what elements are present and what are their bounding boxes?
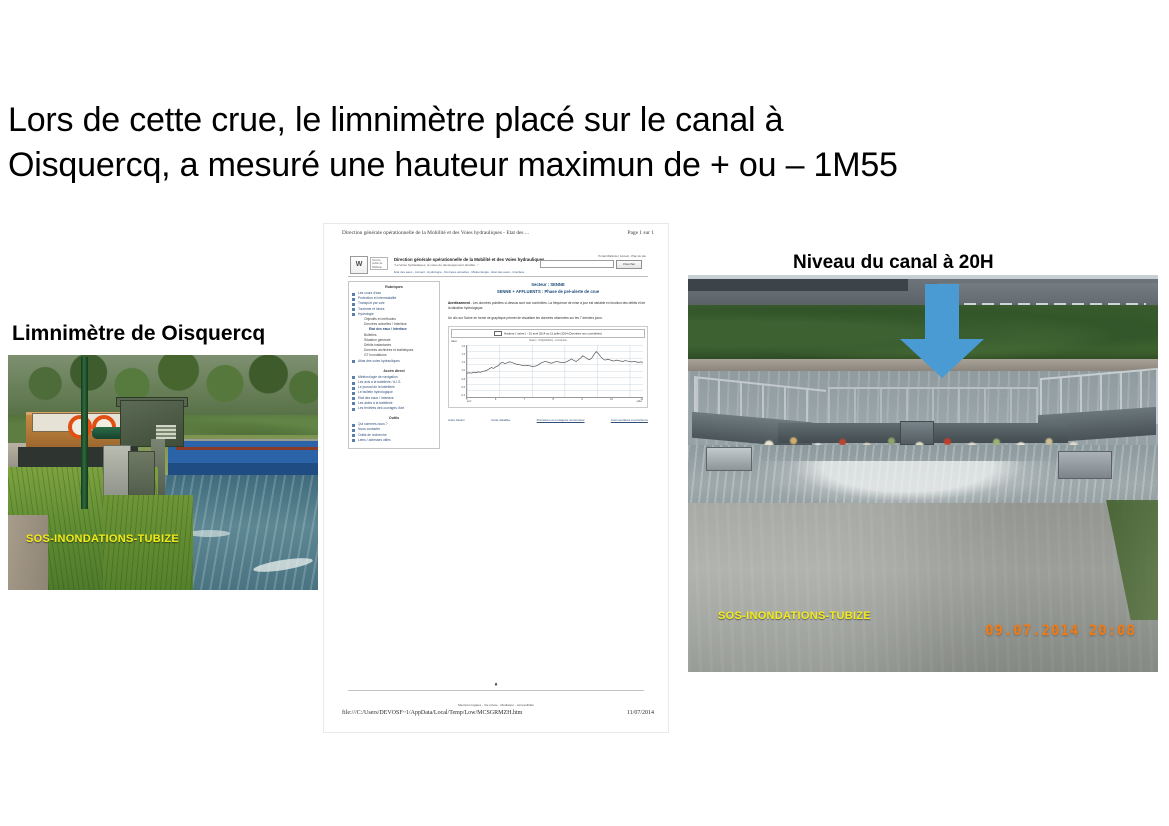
chart-yticks: 1.6 1.4 1.2 1.0 0.8 0.6 0.4 <box>451 345 465 397</box>
site-footer: ♦ Mentions légales - Vie privée - Médiat… <box>348 682 644 711</box>
chart-xunit-left: avril <box>467 401 471 403</box>
sidebar-navigation: Rubriques Les cours d'eau Protection et … <box>348 281 440 449</box>
service-public-logo-icon: Service public de Wallonie <box>370 257 388 270</box>
chart-xticks: 5 6 7 8 9 10 11 <box>466 398 643 401</box>
down-arrow-icon <box>896 284 988 378</box>
portal-links[interactable]: Portail Wallonie | Accueil - Plan du sit… <box>598 254 646 258</box>
search-button[interactable]: Chercher <box>616 260 642 269</box>
sector-line-1: Secteur : SENNE <box>448 281 648 288</box>
sidebar-heading-outils: Outils <box>352 416 436 420</box>
nav-item[interactable]: Atlas des voies hydrauliques <box>352 359 436 364</box>
gravel-path <box>8 515 48 590</box>
metal-box-left <box>706 447 752 471</box>
ytick: 1.6 <box>462 345 465 348</box>
watermark-text: SOS-INONDATIONS-TUBIZE <box>718 610 871 622</box>
water-foam <box>188 530 230 537</box>
ytick: 0.8 <box>462 378 465 381</box>
nav-list-acces-direct: Météorologie de navigation Les avis à la… <box>352 375 436 411</box>
xtick: 9 <box>581 398 582 401</box>
chart-xunit-right: juillet <box>637 401 642 403</box>
xtick: 7 <box>524 398 525 401</box>
chart-plot-area <box>466 345 643 398</box>
legend-swatch-icon <box>494 331 502 336</box>
chart-container: Hauteur ( mètre ) - 01 avril 2014 au 11 … <box>448 326 648 408</box>
nav-item[interactable]: Liens / adresses utiles <box>352 438 436 443</box>
watermark-text: SOS-INONDATIONS-TUBIZE <box>26 533 179 545</box>
note-paragraph: Un clic sur l'icône en forme de graphiqu… <box>448 316 648 320</box>
ytick: 1.0 <box>462 369 465 372</box>
link-commentaires-previsions[interactable]: Commentaires et prévisions <box>611 418 648 422</box>
xtick: 6 <box>495 398 496 401</box>
sidebar-heading-acces-direct: Accès direct <box>352 369 436 373</box>
left-photo-caption: Limnimètre de Oisquercq <box>12 322 265 346</box>
footer-links[interactable]: Mentions légales - Vie privée - Médiateu… <box>458 703 534 707</box>
xtick: 8 <box>552 398 553 401</box>
print-header: Direction générale opérationnelle de la … <box>342 230 654 236</box>
print-header-title: Direction générale opérationnelle de la … <box>342 230 529 236</box>
limnimeter-photo: SOS-INONDATIONS-TUBIZE <box>8 355 318 590</box>
slipway-texture <box>688 503 1158 672</box>
warning-paragraph: Avertissement - Les données publiées ci-… <box>448 301 648 311</box>
nav-list-outils: Qui sommes-nous ? Nous contacter Outils … <box>352 422 436 443</box>
chart-legend: Hauteur ( mètre ) - 01 avril 2014 au 11 … <box>451 329 645 338</box>
ytick: 1.2 <box>462 361 465 364</box>
cabinet-vent <box>156 425 176 439</box>
sidebar-heading-rubriques: Rubriques <box>352 285 436 289</box>
print-footer-date: 11/07/2014 <box>627 710 654 716</box>
search-input[interactable] <box>540 260 614 268</box>
print-footer: file:///C:/Users/DEVOSF~1/AppData/Local/… <box>342 710 654 716</box>
wallonia-logo-icon: W <box>350 256 368 274</box>
green-pole <box>81 357 88 509</box>
main-content: Secteur : SENNE SENNE + AFFLUENTS : Phas… <box>448 281 648 449</box>
right-photo-caption: Niveau du canal à 20H <box>793 252 994 274</box>
ytick: 0.4 <box>462 394 465 397</box>
barge-rail <box>176 447 318 450</box>
scanned-webpage-printout: Direction générale opérationnelle de la … <box>324 224 668 732</box>
breadcrumb[interactable]: Etat des eaux - Accueil - Hydrologie - D… <box>394 270 524 274</box>
hydrograph-chart: Haut. 1.6 1.4 1.2 1.0 0.8 0.6 0.4 <box>451 343 645 405</box>
warning-label: Avertissement <box>448 301 470 305</box>
link-carte-detaillee[interactable]: Carte détaillée <box>491 418 510 422</box>
link-previsions-consignes[interactable]: Prévisions et consignes concernées <box>537 418 585 422</box>
chart-ylabel: Haut. <box>451 340 457 343</box>
footer-rule: Mentions légales - Vie privée - Médiateu… <box>348 690 644 711</box>
building-roof <box>688 279 908 291</box>
xtick: 10 <box>610 398 613 401</box>
chart-line-series <box>467 345 643 397</box>
site-header: W Service public de Wallonie Direction g… <box>348 254 648 277</box>
print-footer-path: file:///C:/Users/DEVOSF~1/AppData/Local/… <box>342 710 522 716</box>
ytick: 1.4 <box>462 353 465 356</box>
legend-label: Hauteur ( mètre ) - 01 avril 2014 au 11 … <box>504 331 602 335</box>
bottom-link-row: Autre bassin Carte détaillée Prévisions … <box>448 418 648 422</box>
link-autre-bassin[interactable]: Autre bassin <box>448 418 465 422</box>
print-header-page: Page 1 sur 1 <box>627 230 654 236</box>
footer-mark-icon: ♦ <box>348 682 644 688</box>
nav-list-rubriques: Les cours d'eau Protection et intermodal… <box>352 291 436 364</box>
sector-line-2: SENNE + AFFLUENTS : Phase de pré-alerte … <box>448 288 648 295</box>
grey-cabinet <box>103 445 131 499</box>
site-title: Direction générale opérationnelle de la … <box>394 257 544 262</box>
camera-timestamp: 09.07.2014 20:08 <box>985 623 1136 639</box>
content-columns: Rubriques Les cours d'eau Protection et … <box>348 281 648 449</box>
chart-sublegend: Station : OISQUERCQ - Limnimètre <box>451 339 645 342</box>
metal-box-right <box>1058 451 1112 479</box>
page-title: Lors de cette crue, le limnimètre placé … <box>8 98 1163 188</box>
life-ring-icon <box>68 415 92 439</box>
warning-text: - Les données publiées ci-dessus sont no… <box>448 301 645 310</box>
nav-item[interactable]: Les fenêtres des ouvrages d'art <box>352 406 436 411</box>
site-tagline: "La Voies hydrauliques, la voies du déve… <box>394 263 479 267</box>
ytick: 0.6 <box>462 386 465 389</box>
document-body: W Service public de Wallonie Direction g… <box>348 254 648 684</box>
